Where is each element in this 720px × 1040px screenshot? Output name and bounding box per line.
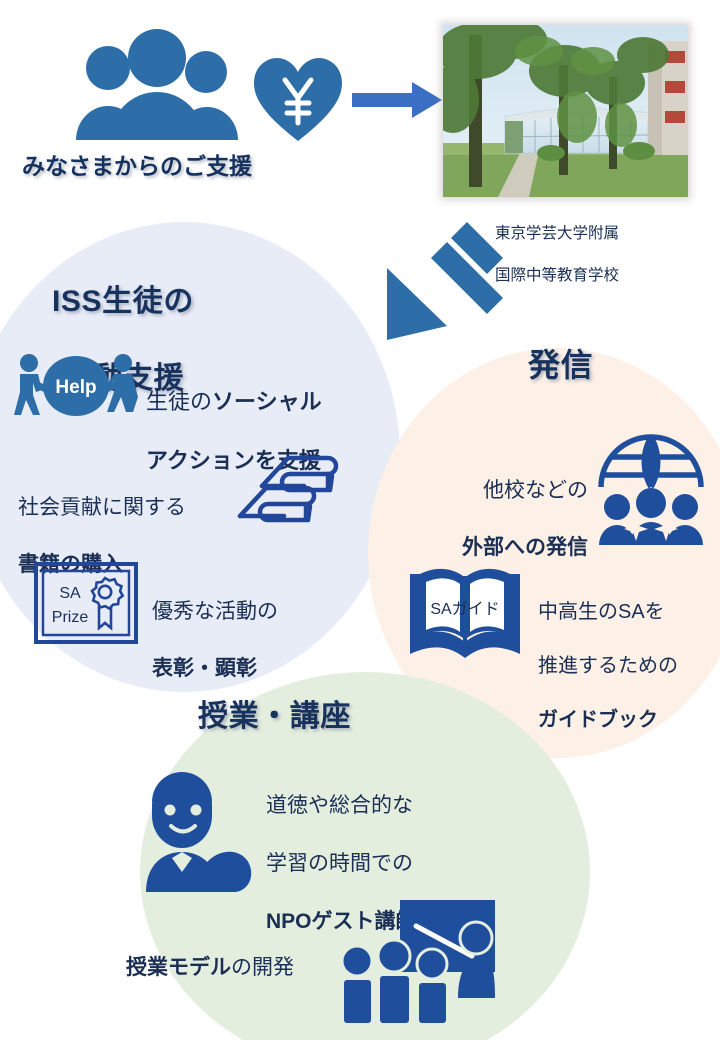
prize-text-plain: 優秀な活動の <box>152 600 278 623</box>
heart-with-yen-icon <box>252 55 344 147</box>
prize-label-line2: Prize <box>52 609 89 626</box>
guide-text-line2: 推進するための <box>538 655 678 677</box>
social-text-bold1: ソーシャル <box>212 389 322 414</box>
sa-prize-certificate-icon: SA Prize <box>34 562 138 644</box>
right-arrow-icon <box>352 80 442 120</box>
globe-with-people-icon <box>596 425 706 547</box>
two-people-carrying-help-ball-icon: Help <box>10 352 142 420</box>
peach-row-guide-text: 中高生のSAを 推進するための ガイドブック <box>538 572 678 734</box>
three-people-icon <box>72 28 242 150</box>
guide-book-label: SAガイド <box>430 600 499 618</box>
prize-text-bold: 表彰・顕彰 <box>152 657 257 680</box>
model-text-plain: の開発 <box>231 956 294 979</box>
stacked-books-icon <box>232 452 346 528</box>
diagonal-chevron-arrow-icon <box>385 222 505 342</box>
school-caption-line1: 東京学芸大学附属 <box>495 225 619 242</box>
peach-row-outreach-text: 他校などの 外部への発信 <box>420 448 588 562</box>
green-row-model-text: 授業モデルの開発 <box>126 928 294 982</box>
npo-text-line2: 学習の時間での <box>266 852 413 875</box>
books-text-plain: 社会貢献に関する <box>18 496 186 519</box>
peach-circle-title: 発信 <box>528 345 593 386</box>
open-book-icon: SAガイド <box>406 562 524 658</box>
infographic-canvas: みなさまからのご支援 <box>0 0 720 1040</box>
blue-title-line1: ISS生徒の <box>52 283 194 321</box>
school-building-photo <box>443 25 688 197</box>
school-caption-line2: 国際中等教育学校 <box>495 267 619 284</box>
support-label: みなさまからのご支援 <box>22 152 252 181</box>
outreach-text-bold: 外部への発信 <box>462 536 588 559</box>
guide-text-line1: 中高生のSAを <box>538 601 665 623</box>
classroom-blackboard-icon <box>340 898 495 1023</box>
prize-label-line1: SA <box>59 585 81 602</box>
social-text-plain: 生徒の <box>146 389 212 414</box>
npo-text-line1: 道徳や総合的な <box>266 794 413 817</box>
model-text-bold: 授業モデル <box>126 956 231 979</box>
school-caption: 東京学芸大学附属 国際中等教育学校 <box>495 203 619 287</box>
guide-text-bold: ガイドブック <box>538 709 658 731</box>
green-circle-title: 授業・講座 <box>198 698 351 736</box>
teacher-person-icon <box>140 762 260 892</box>
blue-row-prize-text: 優秀な活動の 表彰・顕彰 <box>152 570 278 683</box>
outreach-text-plain: 他校などの <box>483 479 588 502</box>
help-ball-label: Help <box>55 377 96 398</box>
